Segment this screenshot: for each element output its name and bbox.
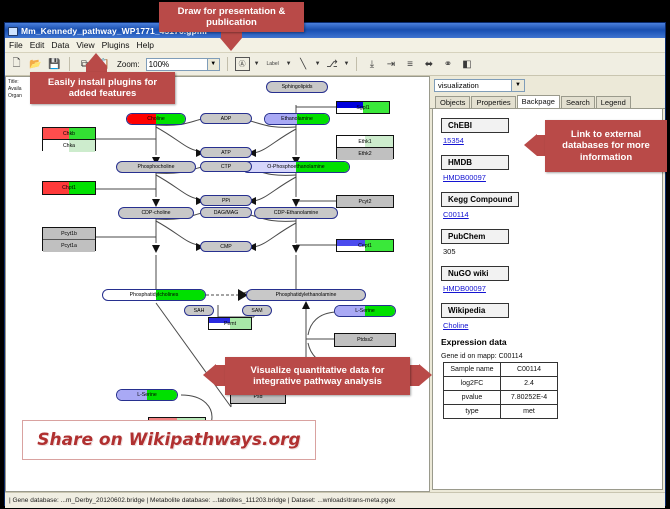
node-dag-mag[interactable]: DAG/MAG [200, 207, 252, 218]
node-label: Pcyt1a [61, 243, 77, 249]
menu-help[interactable]: Help [137, 40, 154, 50]
node-l-serine-right[interactable]: L-Serine [334, 305, 396, 317]
tab-properties[interactable]: Properties [471, 96, 515, 108]
toolbar-separator-2 [227, 57, 228, 71]
gene-chpt1[interactable]: Chpt1 [42, 181, 96, 195]
table-row: Sample name C00114 [444, 363, 558, 377]
node-label: Phosphatidylethanolamine [276, 292, 337, 298]
open-icon[interactable]: 📂 [28, 57, 43, 72]
node-cdp-choline[interactable]: CDP-choline [118, 207, 194, 219]
gene-sgpl1[interactable]: Sgpl1 [336, 101, 390, 114]
node-label: CDP-Ethanolamine [274, 210, 318, 216]
visualization-row: visualization ▼ [430, 76, 665, 94]
align-left-icon[interactable]: ⇥ [383, 57, 398, 72]
db-header-chebi: ChEBI [441, 118, 509, 133]
callout-draw-arrow [220, 38, 242, 51]
node-phosphatidylcholines[interactable]: Phosphatidylcholines [102, 289, 206, 301]
node-label: SAM [251, 308, 262, 314]
node-ethanolamine-top[interactable]: Ethanolamine [264, 113, 330, 125]
menu-view[interactable]: View [76, 40, 94, 50]
node-ctp[interactable]: CTP [200, 161, 252, 172]
node-cdp-ethanolamine[interactable]: CDP-Ethanolamine [254, 207, 338, 219]
zoom-label: Zoom: [117, 60, 140, 69]
node-label: PPi [222, 198, 230, 204]
toolbar-separator-3 [356, 57, 357, 71]
db-link-wikipedia[interactable]: Choline [443, 321, 654, 330]
node-label: Sgpl1 [356, 105, 369, 111]
node-label: Sphingolipids [282, 84, 313, 90]
callout-text: Easily install plugins for added feature… [38, 77, 167, 100]
callout-links-arrow [524, 134, 537, 156]
node-label: O-Phosphoethanolamine [267, 164, 324, 170]
callout-draw: Draw for presentation & publication [159, 2, 304, 32]
node-label: SAH [194, 308, 205, 314]
gene-group-pcyt1[interactable]: Pcyt1b Pcyt1a [42, 227, 96, 251]
same-width-icon[interactable]: ⬌ [421, 57, 436, 72]
node-label: Phosphatidylcholines [130, 292, 179, 298]
callout-text: Link to external databases for more info… [553, 129, 659, 164]
node-l-serine-left[interactable]: L-Serine [116, 389, 178, 401]
status-bar: | Gene database: ...m_Derby_20120602.bri… [5, 492, 665, 508]
tab-objects[interactable]: Objects [435, 96, 470, 108]
pathway-info-availability: Availa [8, 86, 22, 93]
save-icon[interactable]: 💾 [47, 57, 62, 72]
tab-legend[interactable]: Legend [596, 96, 631, 108]
gene-ethk1[interactable]: Ethk1 [337, 136, 393, 148]
node-ppi[interactable]: PPi [200, 195, 252, 206]
db-header-nugo-wiki: NuGO wiki [441, 266, 509, 281]
zoom-combobox[interactable]: 100% ▼ [146, 58, 220, 71]
menu-file[interactable]: File [9, 40, 23, 50]
node-label: Ethk2 [358, 151, 371, 157]
callout-links: Link to external databases for more info… [545, 120, 667, 172]
chevron-down-icon[interactable]: ▼ [208, 58, 220, 71]
db-header-wikipedia: Wikipedia [441, 303, 509, 318]
node-label: CTP [221, 164, 231, 170]
expression-data-heading: Expression data [441, 337, 654, 347]
menu-data[interactable]: Data [51, 40, 69, 50]
zoom-value[interactable]: 100% [146, 58, 208, 71]
visualization-value[interactable]: visualization [434, 79, 512, 92]
node-label: Cept1 [358, 243, 372, 249]
node-o-phosphoethanolamine[interactable]: O-Phosphoethanolamine [242, 161, 350, 173]
callout-text: Draw for presentation & publication [167, 6, 296, 29]
node-atp[interactable]: ATP [200, 147, 252, 158]
node-sphingolipids[interactable]: Sphingolipids [266, 81, 328, 93]
visualization-combobox[interactable]: visualization ▼ [434, 79, 525, 92]
gene-id-line: Gene id on mapp: C00114 [441, 353, 654, 360]
node-choline-top[interactable]: Choline [126, 113, 186, 125]
callout-share: Share on Wikipathways.org [22, 420, 316, 460]
node-label: Ethanolamine [281, 116, 313, 122]
table-row: log2FC 2.4 [444, 377, 558, 391]
pathway-info-organism: Organ [8, 93, 22, 100]
row-value: 2.4 [501, 377, 558, 391]
node-label: Phosphocholine [138, 164, 175, 170]
row-value: 7.80252E-4 [501, 391, 558, 405]
db-link-hmdb[interactable]: HMDB00097 [443, 173, 654, 182]
db-link-nugo-wiki[interactable]: HMDB00097 [443, 284, 654, 293]
node-label: Pcyt1b [61, 231, 77, 237]
panel-tabs: Objects Properties Backpage Search Legen… [430, 94, 665, 109]
gene-pcyt2[interactable]: Pcyt2 [336, 195, 394, 208]
align-top-icon[interactable]: ⤓ [364, 57, 379, 72]
node-label: Ptdss2 [357, 337, 373, 343]
node-label: Pemt [224, 321, 236, 327]
gene-group-chk[interactable]: Chkb Chka [42, 127, 96, 151]
node-sam[interactable]: SAM [242, 305, 272, 316]
node-label: L-Serine [355, 308, 375, 314]
db-link-kegg-compound[interactable]: C00114 [443, 210, 654, 219]
order-icon[interactable]: ◧ [459, 57, 474, 72]
gene-chka[interactable]: Chka [43, 140, 95, 152]
gene-pcyt1b[interactable]: Pcyt1b [43, 228, 95, 240]
line-icon[interactable]: ╲ [296, 57, 311, 72]
db-header-kegg-compound: Kegg Compound [441, 192, 519, 207]
row-label: Sample name [444, 363, 501, 377]
label-dropdown-icon[interactable]: ▼ [286, 61, 292, 67]
gene-pemt[interactable]: Pemt [208, 317, 252, 330]
node-label: CDP-choline [141, 210, 170, 216]
gene-pcyt1a[interactable]: Pcyt1a [43, 240, 95, 252]
callout-text: Share on Wikipathways.org [37, 430, 300, 450]
callout-text: Visualize quantitative data for integrat… [233, 365, 402, 388]
menubar: File Edit Data View Plugins Help [5, 38, 665, 53]
node-label: Pcyt2 [359, 199, 372, 205]
callout-visualize: Visualize quantitative data for integrat… [225, 357, 410, 395]
node-label: Choline [147, 116, 165, 122]
row-label: log2FC [444, 377, 501, 391]
node-sah[interactable]: SAH [184, 305, 214, 316]
window-titlebar: Mm_Kennedy_pathway_WP1771_45176.gpml [5, 23, 665, 38]
node-label: Chpt1 [62, 185, 76, 191]
expression-table: Sample name C00114 log2FC 2.4 pvalue 7.8… [443, 362, 558, 419]
chevron-down-icon[interactable]: ▼ [512, 79, 525, 92]
node-label: L-Serine [137, 392, 157, 398]
toolbar-separator-1 [69, 57, 70, 71]
gene-chkb[interactable]: Chkb [43, 128, 95, 140]
node-phosphatidylethanolamine[interactable]: Phosphatidylethanolamine [246, 289, 366, 301]
gene-ptdss2[interactable]: Ptdss2 [334, 333, 396, 347]
tab-search[interactable]: Search [561, 96, 595, 108]
node-label: ATP [221, 150, 231, 156]
screenshot-root: Mm_Kennedy_pathway_WP1771_45176.gpml Fil… [0, 0, 670, 509]
pathway-info-block: Title: Availa Organ [8, 79, 22, 100]
line-dropdown-icon[interactable]: ▼ [315, 61, 321, 67]
db-header-hmdb: HMDB [441, 155, 509, 170]
callout-plugins: Easily install plugins for added feature… [30, 72, 175, 104]
row-label: type [444, 405, 501, 419]
node-label: DAG/MAG [214, 210, 239, 216]
gene-cept1[interactable]: Cept1 [336, 239, 394, 252]
row-label: pvalue [444, 391, 501, 405]
callout-visualize-arrow-left [203, 364, 216, 386]
node-label: ADP [221, 116, 232, 122]
datanode-dropdown-icon[interactable]: ▼ [254, 61, 260, 67]
app-icon [8, 26, 17, 35]
node-phosphocholine[interactable]: Phosphocholine [116, 161, 196, 173]
interaction-dropdown-icon[interactable]: ▼ [344, 61, 350, 67]
table-row: pvalue 7.80252E-4 [444, 391, 558, 405]
node-label: CMP [220, 244, 232, 250]
status-text: | Gene database: ...m_Derby_20120602.bri… [9, 497, 395, 504]
node-label: Chka [63, 143, 75, 149]
callout-plugins-arrow [85, 53, 107, 66]
menu-edit[interactable]: Edit [30, 40, 45, 50]
tab-backpage[interactable]: Backpage [517, 95, 560, 108]
label-icon[interactable]: Label [264, 57, 282, 72]
row-value: C00114 [501, 363, 558, 377]
new-icon[interactable]: 🗋 [9, 57, 24, 72]
node-label: Chkb [63, 131, 75, 137]
group-icon[interactable]: ⚭ [440, 57, 455, 72]
distribute-icon[interactable]: ≡ [402, 57, 417, 72]
gene-group-ethk[interactable]: Ethk1 Ethk2 [336, 135, 394, 159]
node-adp[interactable]: ADP [200, 113, 252, 124]
db-value-pubchem: 305 [443, 247, 654, 256]
node-cmp[interactable]: CMP [200, 241, 252, 252]
db-header-pubchem: PubChem [441, 229, 509, 244]
row-value: met [501, 405, 558, 419]
pathway-info-title: Title: [8, 79, 22, 86]
node-label: Ethk1 [358, 139, 371, 145]
datanode-icon[interactable]: Ⓐ [235, 57, 250, 71]
callout-visualize-arrow-right [419, 364, 432, 386]
gene-ethk2[interactable]: Ethk2 [337, 148, 393, 160]
interaction-icon[interactable]: ⎇ [325, 57, 340, 72]
menu-plugins[interactable]: Plugins [102, 40, 130, 50]
table-row: type met [444, 405, 558, 419]
